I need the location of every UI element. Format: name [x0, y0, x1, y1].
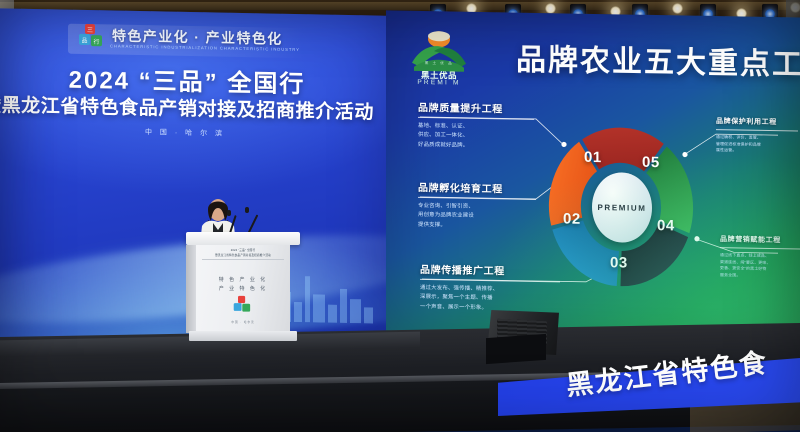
right-led-screen: 黑 土 优 品 黑土优品 PREMI M 品牌农业五大重点工程 品牌质量提升工程	[386, 10, 800, 347]
engineering-item-04: 品牌营销赋能工程 通过线下直点、线上成品、 渠道连线、闯“要区、更味、 更香、更…	[720, 234, 800, 280]
item-02-heading: 品牌孵化培育工程	[418, 179, 536, 196]
connector-lines	[386, 10, 800, 347]
engineering-item-02: 品牌孵化培育工程 专业咨询、引智引资、 用创意为品牌农业建设 提供支撑。	[418, 179, 536, 232]
item-01-heading: 品牌质量提升工程	[418, 99, 534, 116]
sanpin-cube-logo-icon: 三 品 行	[78, 23, 106, 50]
podium-sanpin-cube-logo-icon	[233, 295, 253, 314]
donut-hub-label: PREMIUM	[598, 203, 647, 213]
donut-label-05: 05	[642, 154, 660, 171]
item-02-rule	[418, 197, 536, 200]
left-screen-location: 中 国 · 哈 尔 滨	[0, 124, 376, 141]
brand-logo-cn: 黑土优品	[408, 69, 470, 82]
podium-motto-line1: 特 色 产 业 化	[200, 276, 286, 283]
donut-label-04: 04	[657, 217, 675, 234]
item-01-body: 基地、标准、认证、 供应、加工一体化、 好品质成就好品牌。	[418, 122, 534, 152]
conference-stage-photo: 三 品 行 特色产业化 · 产业特色化 CHARACTERISTIC INDUS…	[0, 0, 800, 432]
engineering-item-05: 品牌保护利用工程 通过确权、评价、监管、 管理促进标准保护和品牌 属性运营。	[716, 116, 798, 155]
item-03-rule	[420, 279, 560, 282]
podium-footer: 中国 · 哈尔滨	[200, 320, 286, 324]
podium-base	[189, 331, 297, 341]
donut-segment-03	[620, 221, 688, 290]
donut-svg	[546, 123, 696, 291]
donut-label-02: 02	[563, 210, 581, 227]
svg-text:行: 行	[93, 38, 99, 46]
podium-motto-line2: 产 业 特 色 化	[200, 285, 286, 292]
item-05-heading: 品牌保护利用工程	[716, 116, 798, 127]
podium-top	[186, 232, 300, 245]
right-screen-title: 品牌农业五大重点工程	[516, 35, 800, 85]
svg-text:三: 三	[87, 27, 93, 34]
podium: 2024 “三品” 全国行 暨黑龙江省特色食品产销对接及招商推介活动 特 色 产…	[186, 232, 300, 344]
item-03-heading: 品牌传播推广工程	[420, 261, 560, 278]
podium-line1: 2024 “三品” 全国行	[200, 248, 286, 252]
item-04-body: 通过线下直点、线上成品、 渠道连线、闯“要区、更味、 更香、更安全”的黑土好物 …	[720, 252, 800, 280]
donut-label-01: 01	[584, 149, 602, 166]
donut-label-03: 03	[610, 254, 628, 271]
engineering-item-03: 品牌传播推广工程 通过大发布、强传播、精推荐、 深展示，聚焦一个主题、传播 一个…	[420, 261, 560, 315]
donut-segment-01	[575, 123, 663, 194]
microphone-head-icon	[245, 207, 249, 213]
donut-segment-05	[546, 142, 612, 236]
brand-logo-en: PREMI M	[408, 79, 470, 87]
donut-hub: PREMIUM	[592, 172, 652, 243]
podium-line2: 暨黑龙江省特色食品产销对接及招商推介活动	[200, 253, 286, 257]
item-04-rule	[720, 247, 800, 249]
five-projects-donut-chart: 01 02 03 04 05 PREMIUM	[546, 123, 696, 291]
banner-back-shadow	[486, 334, 546, 364]
spotlight-bulb-icon	[672, 3, 683, 14]
podium-divider	[202, 259, 284, 260]
item-05-rule	[716, 129, 798, 131]
item-02-body: 专业咨询、引智引资、 用创意为品牌农业建设 提供支撑。	[418, 202, 536, 232]
donut-segment-02	[634, 142, 696, 233]
item-04-heading: 品牌营销赋能工程	[720, 234, 800, 245]
brand-logo-tiny-cn: 黑 土 优 品	[408, 61, 470, 67]
heitu-youpin-logo-icon	[408, 23, 470, 86]
donut-segment-04	[552, 213, 627, 291]
item-01-rule	[418, 117, 534, 120]
microphone-head-icon	[227, 210, 231, 216]
item-05-body: 通过确权、评价、监管、 管理促进标准保护和品牌 属性运营。	[716, 134, 798, 155]
svg-text:品: 品	[81, 37, 87, 44]
engineering-item-01: 品牌质量提升工程 基地、标准、认证、 供应、加工一体化、 好品质成就好品牌。	[418, 99, 534, 152]
